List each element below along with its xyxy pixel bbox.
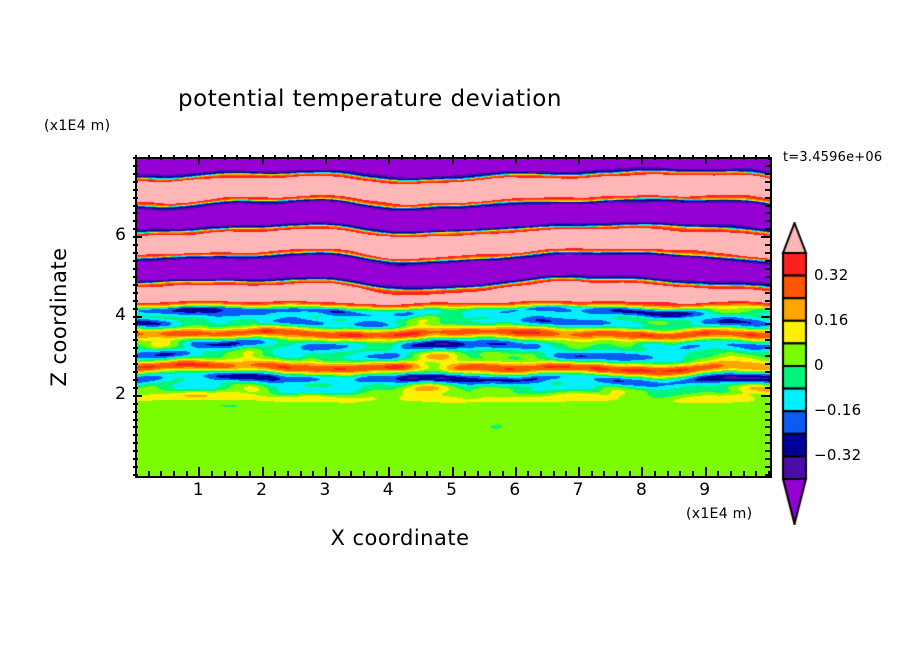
x-major-tick-top (388, 155, 390, 164)
x-tick-label: 8 (628, 480, 654, 500)
y-minor-tick (133, 355, 138, 357)
x-major-tick-top (198, 155, 200, 164)
x-minor-tick-top (249, 155, 251, 160)
y-minor-tick-right (765, 426, 770, 428)
y-minor-tick (133, 220, 138, 222)
x-minor-tick (553, 471, 555, 476)
y-minor-tick (133, 339, 138, 341)
x-major-tick-top (325, 155, 327, 164)
x-major-tick-top (262, 155, 264, 164)
y-minor-tick (133, 308, 138, 310)
y-minor-tick (133, 276, 138, 278)
x-minor-tick (565, 471, 567, 476)
y-minor-tick (133, 363, 138, 365)
x-minor-tick (477, 471, 479, 476)
y-minor-tick (133, 197, 138, 199)
x-minor-tick-top (591, 155, 593, 160)
y-minor-tick-right (765, 300, 770, 302)
x-tick-label: 2 (249, 480, 275, 500)
y-minor-tick-right (765, 268, 770, 270)
x-minor-tick-top (553, 155, 555, 160)
contour-field (137, 159, 770, 476)
y-minor-tick (133, 450, 138, 452)
y-minor-tick (133, 442, 138, 444)
y-minor-tick (133, 252, 138, 254)
x-minor-tick (717, 471, 719, 476)
x-minor-tick-top (667, 155, 669, 160)
x-major-tick (705, 467, 707, 476)
y-axis-unit-label: (x1E4 m) (44, 118, 110, 134)
x-minor-tick (667, 471, 669, 476)
x-minor-tick-top (350, 155, 352, 160)
x-minor-tick (312, 471, 314, 476)
y-minor-tick (133, 411, 138, 413)
x-minor-tick-top (565, 155, 567, 160)
x-tick-label: 5 (439, 480, 465, 500)
colorbar-tick-label: 0.32 (814, 266, 849, 284)
x-minor-tick (464, 471, 466, 476)
x-minor-tick (338, 471, 340, 476)
x-minor-tick (730, 471, 732, 476)
x-minor-tick-top (629, 155, 631, 160)
x-major-tick (578, 467, 580, 476)
y-minor-tick-right (765, 466, 770, 468)
y-minor-tick (133, 403, 138, 405)
x-major-tick-top (452, 155, 454, 164)
x-minor-tick-top (274, 155, 276, 160)
x-minor-tick-top (414, 155, 416, 160)
x-tick-label: 7 (565, 480, 591, 500)
x-minor-tick-top (692, 155, 694, 160)
x-major-tick (641, 467, 643, 476)
y-minor-tick-right (765, 419, 770, 421)
y-minor-tick-right (765, 157, 770, 159)
x-tick-label: 9 (692, 480, 718, 500)
y-minor-tick-right (765, 197, 770, 199)
x-minor-tick (274, 471, 276, 476)
y-minor-tick (133, 331, 138, 333)
x-minor-tick (401, 471, 403, 476)
y-minor-tick-right (765, 173, 770, 175)
y-minor-tick (133, 379, 138, 381)
x-major-tick (198, 467, 200, 476)
y-minor-tick (133, 157, 138, 159)
x-minor-tick (350, 471, 352, 476)
x-major-tick (452, 467, 454, 476)
x-minor-tick-top (743, 155, 745, 160)
x-axis-title: X coordinate (258, 526, 542, 550)
x-major-tick-top (641, 155, 643, 164)
x-minor-tick (363, 471, 365, 476)
y-minor-tick (133, 228, 138, 230)
x-minor-tick-top (401, 155, 403, 160)
x-minor-tick-top (755, 155, 757, 160)
x-minor-tick (173, 471, 175, 476)
x-minor-tick (249, 471, 251, 476)
y-minor-tick (133, 205, 138, 207)
y-major-tick-right (761, 236, 770, 238)
x-minor-tick-top (502, 155, 504, 160)
x-minor-tick-top (376, 155, 378, 160)
y-minor-tick (133, 458, 138, 460)
x-major-tick (515, 467, 517, 476)
x-minor-tick-top (603, 155, 605, 160)
x-minor-tick-top (211, 155, 213, 160)
colorbar (781, 222, 809, 525)
y-minor-tick-right (765, 450, 770, 452)
x-tick-label: 6 (502, 480, 528, 500)
y-minor-tick (133, 165, 138, 167)
y-minor-tick-right (765, 339, 770, 341)
x-minor-tick (414, 471, 416, 476)
x-minor-tick-top (464, 155, 466, 160)
x-minor-tick (236, 471, 238, 476)
y-minor-tick (133, 323, 138, 325)
x-minor-tick (160, 471, 162, 476)
y-minor-tick-right (765, 165, 770, 167)
x-minor-tick (426, 471, 428, 476)
x-major-tick (262, 467, 264, 476)
y-minor-tick-right (765, 189, 770, 191)
y-minor-tick-right (765, 434, 770, 436)
figure-root: potential temperature deviation (x1E4 m)… (0, 0, 904, 654)
y-minor-tick-right (765, 474, 770, 476)
y-minor-tick-right (765, 252, 770, 254)
y-minor-tick-right (765, 220, 770, 222)
colorbar-tick-label: −0.16 (814, 401, 861, 419)
y-minor-tick (133, 244, 138, 246)
y-minor-tick (133, 212, 138, 214)
y-minor-tick (133, 387, 138, 389)
y-tick-label: 6 (100, 225, 126, 245)
colorbar-tick-label: 0.16 (814, 311, 849, 329)
x-minor-tick-top (173, 155, 175, 160)
x-minor-tick (654, 471, 656, 476)
y-minor-tick (133, 347, 138, 349)
x-minor-tick (616, 471, 618, 476)
x-major-tick-top (578, 155, 580, 164)
y-minor-tick (133, 181, 138, 183)
y-minor-tick-right (765, 292, 770, 294)
y-minor-tick-right (765, 205, 770, 207)
x-minor-tick (439, 471, 441, 476)
x-minor-tick-top (224, 155, 226, 160)
x-minor-tick-top (186, 155, 188, 160)
x-major-tick-top (705, 155, 707, 164)
y-minor-tick-right (765, 458, 770, 460)
x-minor-tick-top (287, 155, 289, 160)
y-minor-tick (133, 260, 138, 262)
x-minor-tick (755, 471, 757, 476)
y-minor-tick (133, 292, 138, 294)
x-minor-tick-top (654, 155, 656, 160)
y-minor-tick-right (765, 442, 770, 444)
x-minor-tick-top (527, 155, 529, 160)
x-minor-tick (603, 471, 605, 476)
y-minor-tick (133, 284, 138, 286)
y-axis-title: Z coordinate (47, 217, 71, 417)
y-minor-tick (133, 189, 138, 191)
y-minor-tick-right (765, 331, 770, 333)
x-minor-tick-top (338, 155, 340, 160)
y-major-tick-right (761, 316, 770, 318)
y-minor-tick-right (765, 371, 770, 373)
colorbar-tick-label: −0.32 (814, 446, 861, 464)
x-major-tick (388, 467, 390, 476)
y-minor-tick-right (765, 403, 770, 405)
x-minor-tick (376, 471, 378, 476)
x-minor-tick-top (489, 155, 491, 160)
x-minor-tick-top (312, 155, 314, 160)
x-minor-tick-top (300, 155, 302, 160)
y-minor-tick-right (765, 355, 770, 357)
x-minor-tick (540, 471, 542, 476)
y-minor-tick-right (765, 181, 770, 183)
y-minor-tick-right (765, 308, 770, 310)
y-minor-tick (133, 474, 138, 476)
x-minor-tick-top (679, 155, 681, 160)
x-minor-tick (527, 471, 529, 476)
page-title: potential temperature deviation (0, 86, 740, 112)
x-minor-tick-top (730, 155, 732, 160)
y-minor-tick (133, 466, 138, 468)
y-minor-tick-right (765, 228, 770, 230)
colorbar-tick-label: 0 (814, 356, 824, 374)
y-minor-tick-right (765, 387, 770, 389)
y-minor-tick-right (765, 347, 770, 349)
x-axis-unit-label: (x1E4 m) (686, 506, 752, 522)
y-minor-tick-right (765, 212, 770, 214)
x-minor-tick (502, 471, 504, 476)
timestamp-annotation: t=3.4596e+06 (783, 150, 882, 165)
y-major-tick (133, 395, 142, 397)
x-minor-tick (692, 471, 694, 476)
x-tick-label: 3 (312, 480, 338, 500)
y-minor-tick (133, 434, 138, 436)
x-minor-tick (211, 471, 213, 476)
x-minor-tick-top (236, 155, 238, 160)
y-minor-tick-right (765, 379, 770, 381)
x-minor-tick-top (148, 155, 150, 160)
y-minor-tick-right (765, 260, 770, 262)
y-minor-tick (133, 419, 138, 421)
x-minor-tick-top (616, 155, 618, 160)
y-minor-tick (133, 300, 138, 302)
y-major-tick (133, 316, 142, 318)
y-minor-tick (133, 371, 138, 373)
x-minor-tick-top (717, 155, 719, 160)
y-minor-tick-right (765, 323, 770, 325)
x-major-tick-top (515, 155, 517, 164)
x-minor-tick (148, 471, 150, 476)
y-minor-tick (133, 268, 138, 270)
x-minor-tick-top (426, 155, 428, 160)
x-minor-tick (489, 471, 491, 476)
x-minor-tick-top (363, 155, 365, 160)
x-minor-tick (287, 471, 289, 476)
x-minor-tick-top (439, 155, 441, 160)
y-minor-tick (133, 173, 138, 175)
x-minor-tick (300, 471, 302, 476)
y-minor-tick (133, 426, 138, 428)
y-minor-tick-right (765, 284, 770, 286)
x-minor-tick (591, 471, 593, 476)
y-minor-tick-right (765, 411, 770, 413)
y-tick-label: 4 (100, 305, 126, 325)
x-minor-tick-top (160, 155, 162, 160)
x-minor-tick-top (540, 155, 542, 160)
y-minor-tick-right (765, 363, 770, 365)
y-major-tick-right (761, 395, 770, 397)
x-major-tick (325, 467, 327, 476)
x-tick-label: 4 (375, 480, 401, 500)
x-minor-tick (224, 471, 226, 476)
y-tick-label: 2 (100, 384, 126, 404)
y-major-tick (133, 236, 142, 238)
x-minor-tick-top (477, 155, 479, 160)
x-minor-tick (629, 471, 631, 476)
x-tick-label: 1 (185, 480, 211, 500)
plot-area (135, 157, 772, 478)
x-minor-tick (679, 471, 681, 476)
x-minor-tick (743, 471, 745, 476)
y-minor-tick-right (765, 276, 770, 278)
x-minor-tick (186, 471, 188, 476)
y-minor-tick-right (765, 244, 770, 246)
